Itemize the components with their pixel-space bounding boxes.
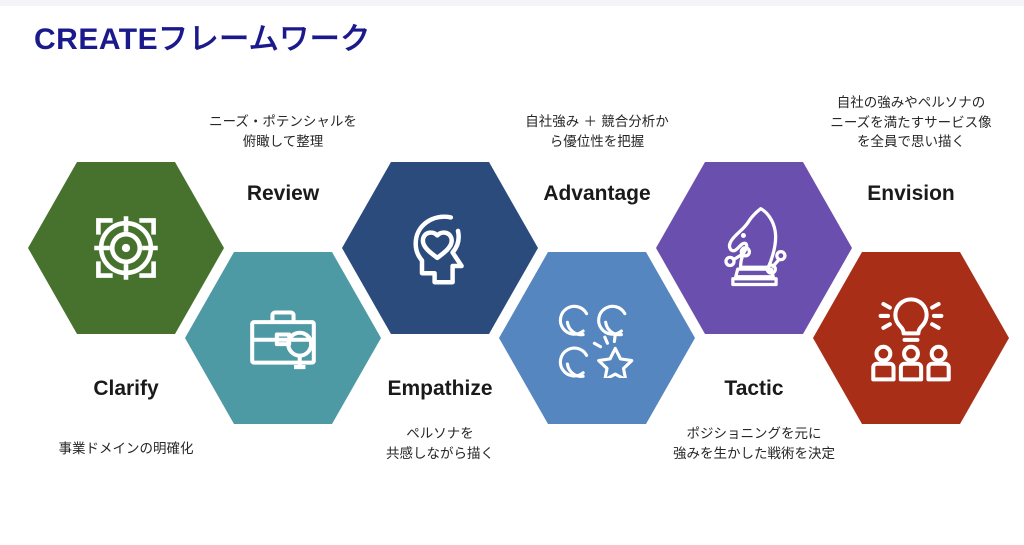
step-caption-tactic: ポジショニングを元に 強みを生かした戦術を決定 [634,425,874,464]
step-label-clarify: Clarify [16,377,236,401]
step-label-review: Review [173,182,393,206]
chess-knight-icon [706,200,802,296]
slide-canvas: CREATEフレームワーク [0,0,1024,545]
step-caption-envision: 自社の強みやペルソナの ニーズを満たすサービス像 を全員で思い描く [791,94,1024,153]
create-framework-diagram: Clarify 事業ドメインの明確化 Review [0,0,1024,545]
step-caption-review: ニーズ・ポテンシャルを 俯瞰して整理 [163,113,403,152]
step-caption-clarify: 事業ドメインの明確化 [6,440,246,460]
circles-star-icon [553,298,641,378]
step-caption-advantage: 自社強み ＋ 競合分析か ら優位性を把握 [477,113,717,152]
step-caption-empathize: ペルソナを 共感しながら描く [320,425,560,464]
step-label-empathize: Empathize [330,377,550,401]
step-label-envision: Envision [801,182,1021,206]
briefcase-search-icon [239,294,327,382]
head-heart-icon [395,203,485,293]
step-label-advantage: Advantage [487,182,707,206]
target-focus-icon [80,202,172,294]
lightbulb-people-icon [863,292,959,384]
step-label-tactic: Tactic [644,377,864,401]
